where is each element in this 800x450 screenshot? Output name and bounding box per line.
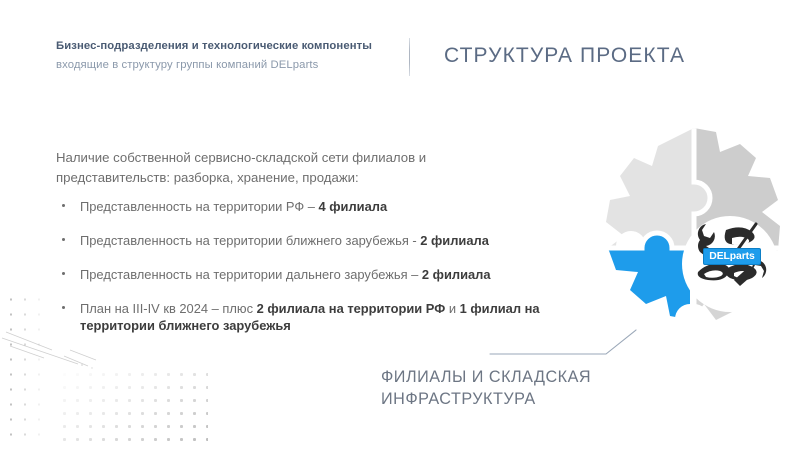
caption-line-2: ИНФРАСТРУКТУРА: [381, 388, 651, 410]
list-item: Представленность на территории дальнего …: [56, 266, 576, 283]
bullet-text-normal: Представленность на территории дальнего …: [80, 267, 422, 282]
bullet-text-bold: 4 филиала: [319, 199, 388, 214]
header-divider: [409, 38, 410, 76]
slide-header: Бизнес-подразделения и технологические к…: [0, 0, 800, 100]
list-item: Представленность на территории РФ – 4 фи…: [56, 198, 576, 215]
bullet-list: Представленность на территории РФ – 4 фи…: [56, 198, 576, 334]
bullet-text-normal: Представленность на территории РФ –: [80, 199, 319, 214]
bullet-text-bold: 2 филиала: [420, 233, 489, 248]
header-title-main: Бизнес-подразделения и технологические к…: [56, 40, 372, 52]
delparts-wordmark: DELparts: [703, 248, 761, 265]
bullet-text-bold: 2 филиала: [422, 267, 491, 282]
bullet-text-normal: План на III-IV кв 2024 – плюс: [80, 301, 257, 316]
intro-paragraph: Наличие собственной сервисно-складской с…: [56, 148, 486, 188]
header-title-sub: входящие в структуру группы компаний DEL…: [56, 59, 318, 71]
bullet-dot-icon: [62, 272, 65, 275]
bullet-text-normal: Представленность на территории ближнего …: [80, 233, 420, 248]
slide-canvas: Бизнес-подразделения и технологические к…: [0, 0, 800, 450]
bullet-dot-icon: [62, 238, 65, 241]
bullet-text-bold: 2 филиала на территории РФ: [257, 301, 446, 316]
bullet-text-normal-2: и: [445, 301, 459, 316]
bullet-dot-icon: [62, 204, 65, 207]
bullet-dot-icon: [62, 306, 65, 309]
page-title: СТРУКТУРА ПРОЕКТА: [444, 44, 685, 68]
list-item: Представленность на территории ближнего …: [56, 232, 576, 249]
decorative-dot-column: [4, 292, 50, 442]
decorative-dot-block: [58, 368, 208, 450]
gear-piece-bottom-left-accent: [592, 235, 690, 374]
decorative-streak-lines: [0, 330, 120, 380]
